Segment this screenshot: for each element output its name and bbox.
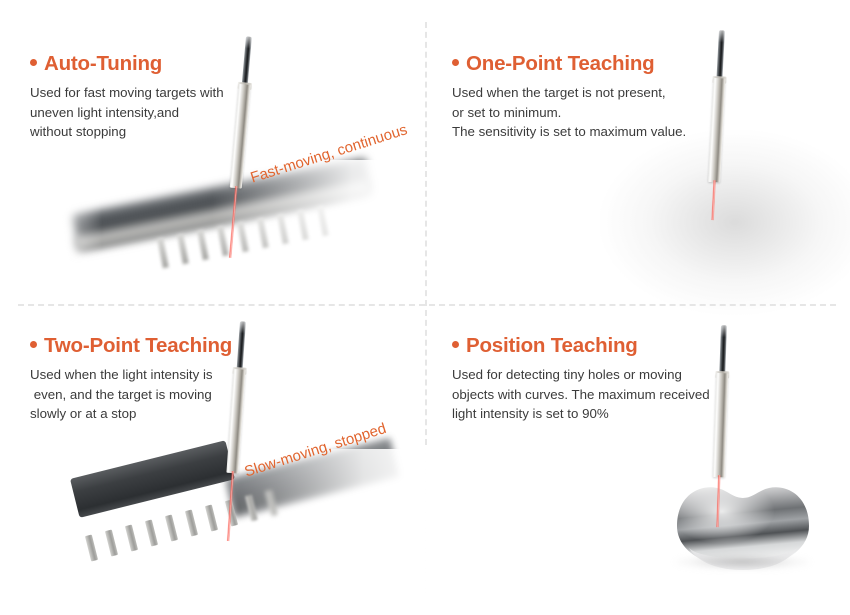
panel-heading-label: One-Point Teaching	[466, 52, 655, 75]
panel-auto-tuning: Auto-Tuning Used for fast moving targets…	[0, 0, 425, 307]
motion-blur-fade-left	[32, 150, 102, 280]
panel-heading-label: Position Teaching	[466, 334, 638, 357]
panel-heading: Auto-Tuning	[30, 52, 330, 76]
panel-text-block: Auto-Tuning Used for fast moving targets…	[30, 52, 330, 142]
ic-chip-pin	[125, 525, 138, 552]
panel-body-line: slowly or at a stop	[30, 404, 330, 424]
ic-chip-pin	[165, 515, 178, 542]
panel-text-block: Two-Point Teaching Used when the light i…	[30, 334, 330, 424]
ic-chip-pin	[177, 234, 189, 265]
panel-position-teaching: Position Teaching Used for detecting tin…	[425, 307, 850, 614]
panel-body-line: uneven light intensity,and	[30, 103, 330, 123]
sharp-ic-chip-illustration	[40, 457, 410, 607]
bullet-dot-icon	[452, 341, 459, 348]
panel-body-line: or set to minimum.	[452, 103, 752, 123]
ic-chip-pin	[157, 238, 169, 269]
panel-heading: Two-Point Teaching	[30, 334, 330, 358]
panel-body-line: Used when the target is not present,	[452, 83, 752, 103]
panel-text-block: One-Point Teaching Used when the target …	[452, 52, 752, 142]
bullet-dot-icon	[452, 59, 459, 66]
ic-chip-pin	[205, 505, 218, 532]
panel-heading-label: Auto-Tuning	[44, 52, 162, 75]
bullet-dot-icon	[30, 341, 37, 348]
panel-two-point-teaching: Two-Point Teaching Used when the light i…	[0, 307, 425, 614]
soft-glow-backdrop	[600, 130, 850, 315]
panel-body-line: Used when the light intensity is	[30, 365, 330, 385]
ic-chip-pin	[105, 530, 118, 557]
panel-one-point-teaching: One-Point Teaching Used when the target …	[425, 0, 850, 307]
panel-body-line: without stopping	[30, 122, 330, 142]
ghost-outline-ic-chip-illustration	[620, 155, 845, 285]
panel-heading: One-Point Teaching	[452, 52, 752, 76]
ic-chip-pin	[145, 520, 158, 547]
ic-chip-pin	[185, 510, 198, 537]
object-drop-shadow	[675, 554, 810, 570]
ic-chip-pin	[197, 230, 209, 261]
panel-body-line: Used for fast moving targets with	[30, 83, 330, 103]
metallic-bean-object-illustration	[655, 462, 845, 582]
panel-heading-label: Two-Point Teaching	[44, 334, 232, 357]
blurred-ic-chip-illustration	[42, 150, 402, 290]
ic-chip-pin	[85, 535, 98, 562]
panel-body-line: even, and the target is moving	[30, 385, 330, 405]
bullet-dot-icon	[30, 59, 37, 66]
